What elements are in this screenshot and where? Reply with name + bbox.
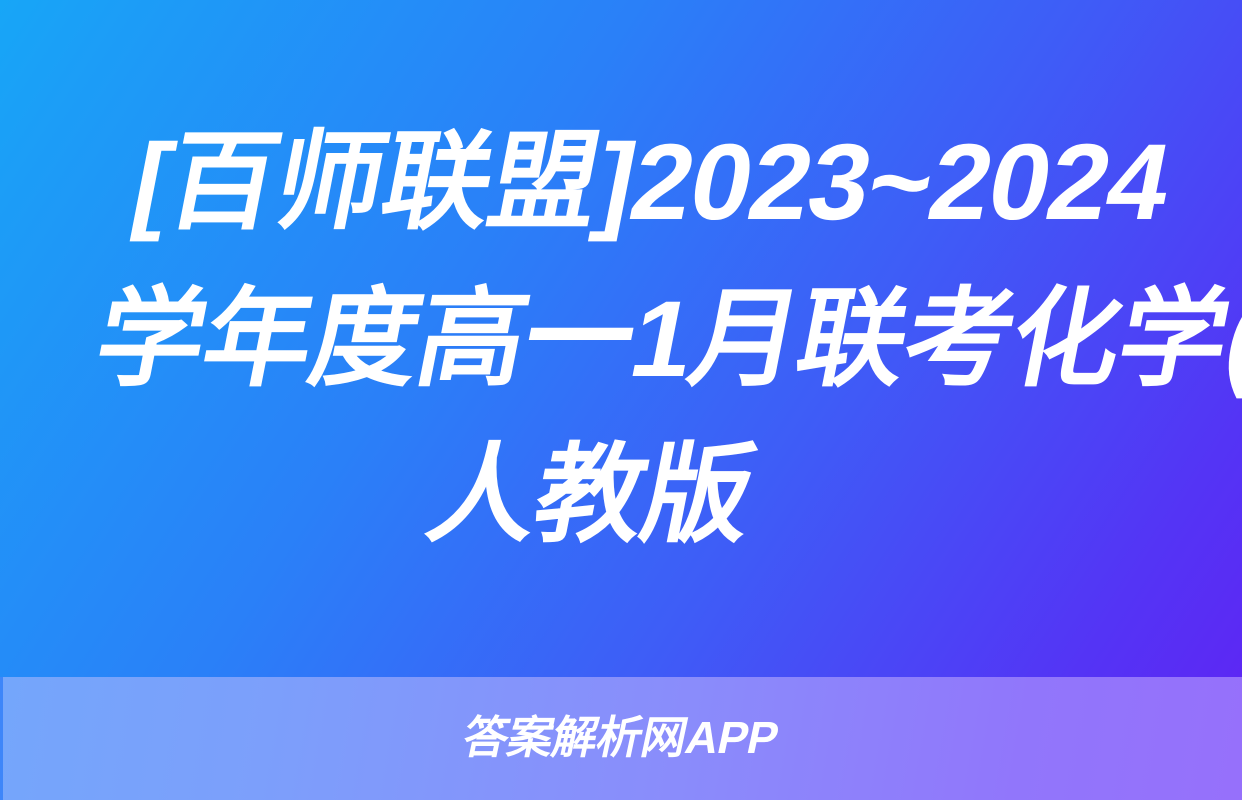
page-title-line-1: [百师联盟]2023~2024 bbox=[113, 104, 1189, 261]
page-title: [百师联盟]2023~2024 学年度高一1月联考化学( 人教版 bbox=[52, 104, 1189, 574]
exam-cover-card: [百师联盟]2023~2024 学年度高一1月联考化学( 人教版 答案解析网AP… bbox=[0, 0, 1242, 800]
watermark-banner: 答案解析网APP bbox=[0, 677, 1242, 800]
banner-left-edge bbox=[0, 677, 3, 800]
page-title-line-2: 学年度高一1月联考化学( bbox=[83, 260, 1159, 417]
page-title-line-3: 人教版 bbox=[52, 417, 1128, 574]
watermark-app-label: 答案解析网APP bbox=[459, 715, 782, 760]
hero-gradient-background: [百师联盟]2023~2024 学年度高一1月联考化学( 人教版 bbox=[0, 0, 1242, 677]
